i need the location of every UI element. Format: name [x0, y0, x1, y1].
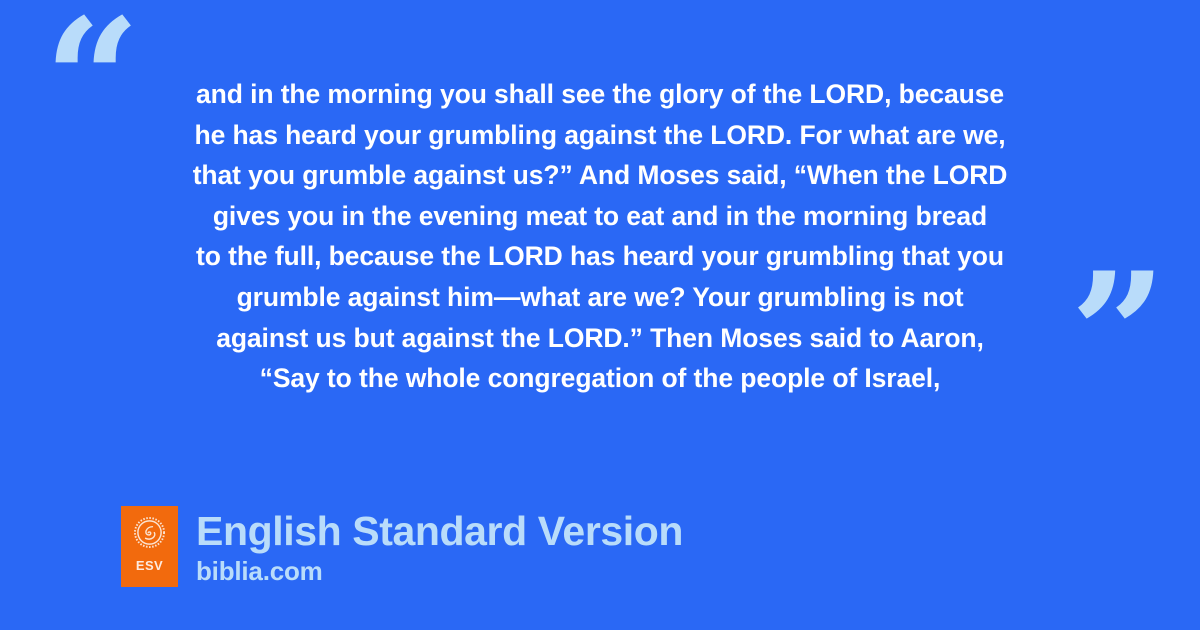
- esv-logo: ESV: [121, 506, 178, 587]
- brand-text-group: English Standard Version biblia.com: [196, 506, 683, 586]
- closing-quote-icon: ”: [1070, 250, 1165, 418]
- esv-logo-label: ESV: [136, 559, 163, 572]
- quote-line: against us but against the LORD.” Then M…: [104, 318, 1096, 359]
- quote-card: “ and in the morning you shall see the g…: [0, 0, 1200, 630]
- brand-footer: ESV English Standard Version biblia.com: [121, 506, 683, 587]
- brand-subtitle-link[interactable]: biblia.com: [196, 556, 683, 586]
- quote-line: grumble against him—what are we? Your gr…: [104, 277, 1096, 318]
- quote-line: gives you in the evening meat to eat and…: [104, 196, 1096, 237]
- quote-line: “Say to the whole congregation of the pe…: [104, 358, 1096, 399]
- quote-line: that you grumble against us?” And Moses …: [104, 155, 1096, 196]
- quote-text: and in the morning you shall see the glo…: [104, 74, 1096, 399]
- quote-line: he has heard your grumbling against the …: [104, 115, 1096, 156]
- esv-seal-icon: [134, 517, 165, 548]
- quote-line: and in the morning you shall see the glo…: [104, 74, 1096, 115]
- brand-title: English Standard Version: [196, 508, 683, 554]
- quote-line: to the full, because the LORD has heard …: [104, 236, 1096, 277]
